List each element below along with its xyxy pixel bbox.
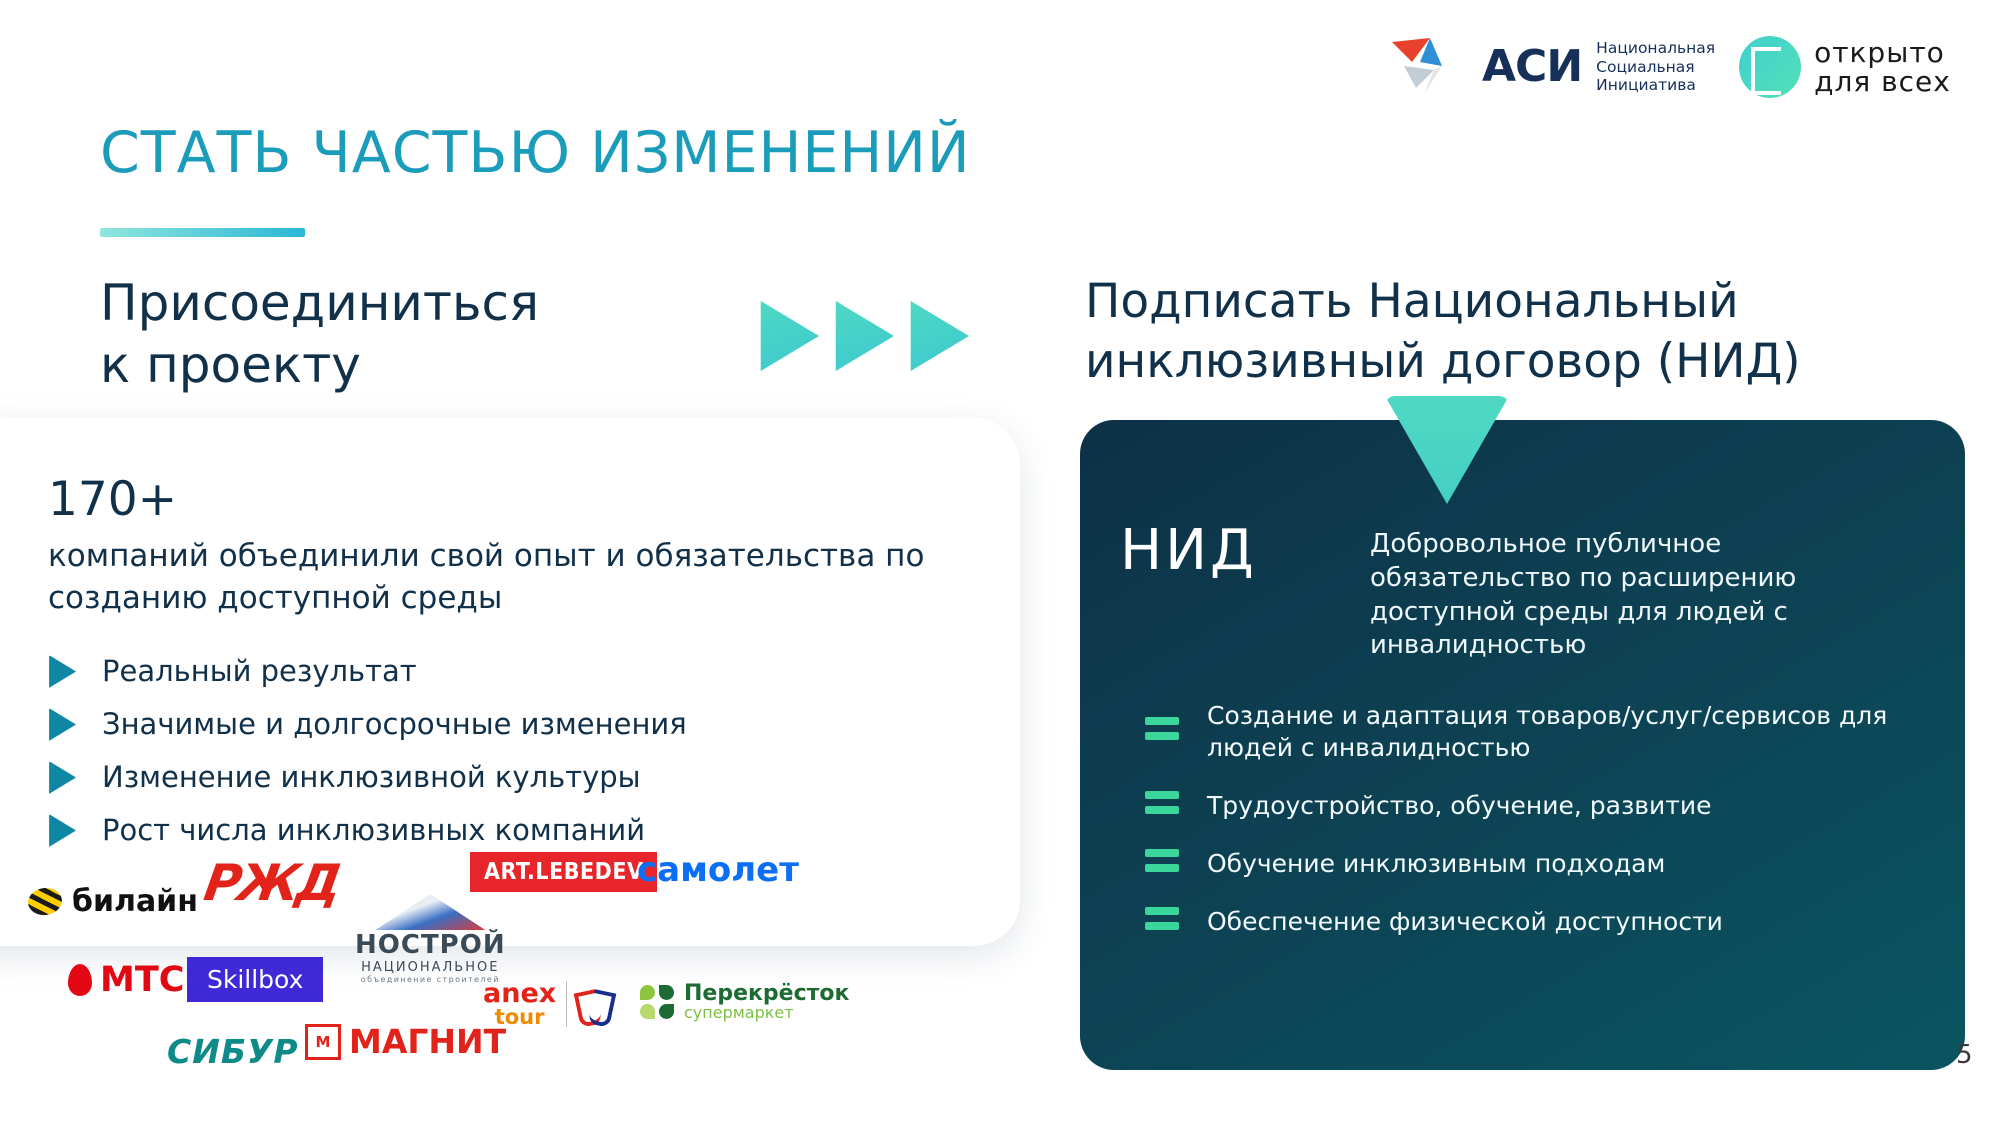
mts-drop-icon: [68, 964, 92, 996]
asi-subtitle-line2: Социальная: [1596, 58, 1715, 77]
equals-bullet-icon: [1145, 907, 1179, 937]
logo-beeline-label: билайн: [72, 884, 198, 919]
logo-anex-label: anex: [483, 980, 556, 1007]
logo-beeline: билайн: [28, 884, 198, 919]
divider: [566, 981, 567, 1027]
logo-art-lebedev-label: ART.LEBEDEV: [470, 852, 657, 892]
triangle-bullet-icon: [48, 814, 76, 848]
list-item: Трудоустройство, обучение, развитие: [1145, 790, 1935, 822]
list-item: Значимые и долгосрочные изменения: [48, 698, 928, 751]
logo-perekrestok-sub: супермаркет: [684, 1005, 849, 1021]
equals-bullet-icon: [1145, 791, 1179, 821]
open-for-all-line1: открыто: [1814, 38, 1951, 67]
anex-text: anex tour: [483, 980, 556, 1028]
open-door-icon: [1739, 36, 1801, 98]
list-item-label: Значимые и долгосрочные изменения: [102, 709, 687, 741]
asi-paperplane-icon: [1390, 36, 1468, 98]
heart-icon: [577, 988, 613, 1020]
magnit-mark-icon: М: [305, 1024, 341, 1060]
logo-perekrestok-label: Перекрёсток: [684, 982, 849, 1005]
left-column-heading: Присоединиться к проекту: [100, 272, 700, 396]
right-column-heading: Подписать Национальный инклюзивный догов…: [1085, 272, 1965, 391]
arrow-group: [757, 298, 969, 374]
logo-samolet: самолет: [637, 850, 799, 890]
play-arrow-icon: [907, 298, 969, 374]
asi-logo: АСИ Национальная Социальная Инициатива: [1390, 36, 1715, 98]
list-item: Обеспечение физической доступности: [1145, 906, 1935, 938]
logo-skillbox: Skillbox: [187, 957, 323, 1002]
list-item-label: Трудоустройство, обучение, развитие: [1207, 790, 1711, 822]
list-item-label: Обеспечение физической доступности: [1207, 906, 1723, 938]
logo-nostroy-sub2: объединение строителей: [361, 975, 500, 984]
logo-art-lebedev: ART.LEBEDEV: [470, 852, 657, 892]
left-heading-line2: к проекту: [100, 334, 700, 396]
logo-anex-tour: anex tour: [483, 980, 613, 1028]
clover-icon: [640, 985, 674, 1019]
asi-wordmark: АСИ: [1482, 45, 1582, 89]
logo-mts: МТС: [68, 960, 184, 1000]
logo-nostroy-sub1: НАЦИОНАЛЬНОЕ: [361, 960, 499, 975]
asi-subtitle: Национальная Социальная Инициатива: [1596, 39, 1715, 96]
stat-big-number: 170+: [48, 476, 177, 523]
header-logos: АСИ Национальная Социальная Инициатива о…: [1390, 22, 1980, 112]
list-item-label: Создание и адаптация товаров/услуг/серви…: [1207, 700, 1935, 764]
triangle-bullet-icon: [48, 708, 76, 742]
right-heading-line2: инклюзивный договор (НИД): [1085, 332, 1965, 392]
logo-mts-label: МТС: [100, 960, 184, 1000]
list-item: Создание и адаптация товаров/услуг/серви…: [1145, 700, 1935, 764]
equals-bullet-icon: [1145, 849, 1179, 879]
nid-badge: НИД: [1120, 518, 1257, 583]
logo-nostroy: НОСТРОЙ НАЦИОНАЛЬНОЕ объединение строите…: [355, 894, 506, 984]
logo-samolet-label: самолет: [637, 850, 799, 890]
triangle-bullet-icon: [48, 761, 76, 795]
logo-skillbox-label: Skillbox: [187, 957, 323, 1002]
perekrestok-text: Перекрёсток супермаркет: [684, 982, 849, 1021]
logo-perekrestok: Перекрёсток супермаркет: [640, 982, 849, 1021]
logo-sibur-label: СИБУР: [167, 1032, 299, 1071]
beeline-bee-icon: [26, 886, 63, 917]
logo-nostroy-label: НОСТРОЙ: [355, 930, 506, 960]
asi-subtitle-line1: Национальная: [1596, 39, 1715, 58]
nid-commitment-list: Создание и адаптация товаров/услуг/серви…: [1145, 700, 1935, 964]
play-arrow-icon: [832, 298, 894, 374]
left-heading-line1: Присоединиться: [100, 272, 700, 334]
list-item-label: Изменение инклюзивной культуры: [102, 762, 641, 794]
logo-sibur: СИБУР: [167, 1032, 299, 1071]
triangle-bullet-icon: [48, 655, 76, 689]
page-number: 5: [1956, 1040, 1973, 1070]
list-item: Обучение инклюзивным подходам: [1145, 848, 1935, 880]
list-item: Изменение инклюзивной культуры: [48, 751, 928, 804]
nid-description: Добровольное публичное обязательство по …: [1370, 528, 1930, 663]
slide: АСИ Национальная Социальная Инициатива о…: [0, 0, 2000, 1125]
list-item-label: Обучение инклюзивным подходам: [1207, 848, 1665, 880]
play-arrow-icon: [757, 298, 819, 374]
nostroy-roof-icon: [375, 894, 485, 930]
right-heading-line1: Подписать Национальный: [1085, 272, 1965, 332]
benefit-list: Реальный результат Значимые и долгосрочн…: [48, 645, 928, 857]
open-for-all-wordmark: открыто для всех: [1814, 38, 1951, 97]
stat-description: компаний объединили свой опыт и обязател…: [48, 536, 1008, 619]
partner-logo-strip: билайн РЖД НОСТРОЙ НАЦИОНАЛЬНОЕ объедине…: [0, 862, 1080, 1092]
logo-anex-sub: tour: [483, 1007, 556, 1028]
list-item-label: Рост числа инклюзивных компаний: [102, 815, 645, 847]
list-item-label: Реальный результат: [102, 656, 417, 688]
list-item: Реальный результат: [48, 645, 928, 698]
asi-subtitle-line3: Инициатива: [1596, 76, 1715, 95]
open-for-all-line2: для всех: [1814, 67, 1951, 96]
logo-rzd: РЖД: [205, 854, 338, 912]
page-title: СТАТЬ ЧАСТЬЮ ИЗМЕНЕНИЙ: [100, 120, 971, 186]
logo-rzd-label: РЖД: [200, 854, 343, 912]
title-underline-rule: [100, 228, 305, 237]
open-for-all-logo: открыто для всех: [1739, 36, 1951, 98]
logo-magnit: М МАГНИТ: [305, 1022, 506, 1061]
equals-bullet-icon: [1145, 717, 1179, 747]
